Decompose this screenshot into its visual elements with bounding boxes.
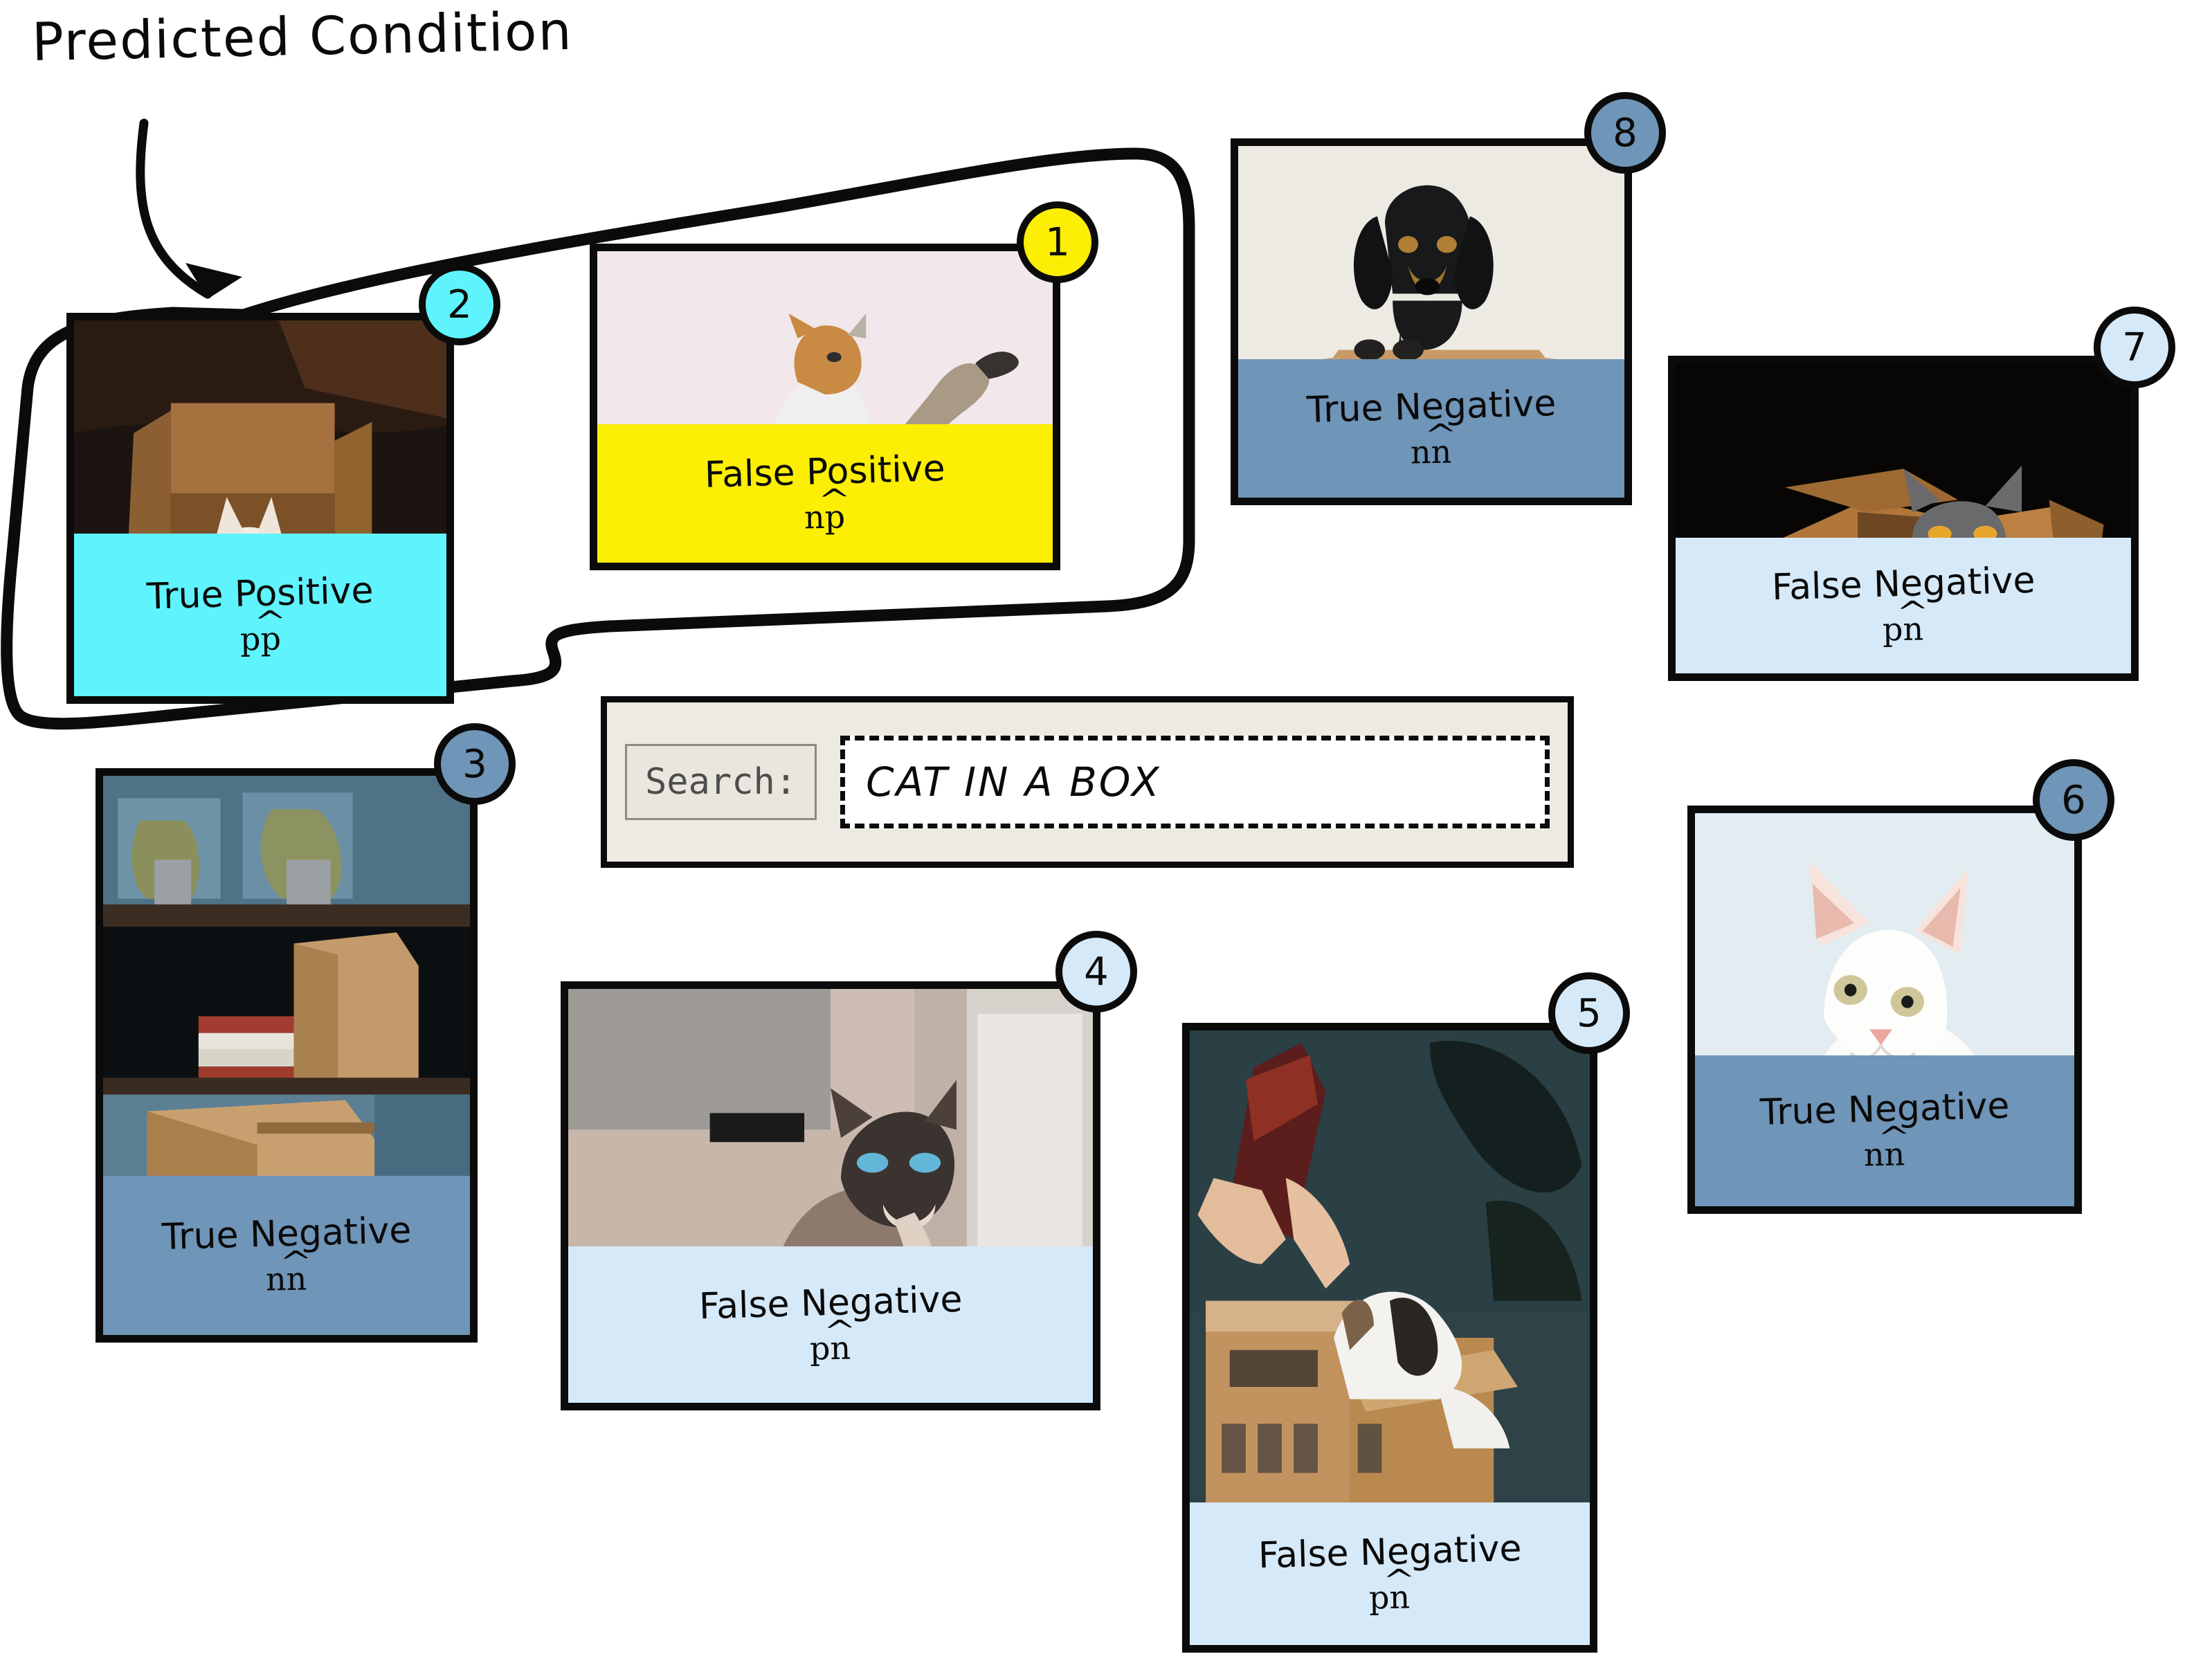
card-badge-8[interactable]: 8 (1584, 92, 1666, 174)
card-symbol: nn (1411, 435, 1452, 468)
card-symbol: np (804, 500, 846, 533)
card-caption: False Negative pn (568, 1246, 1093, 1403)
card-badge-6[interactable]: 6 (2033, 759, 2114, 841)
arrow-head-icon (185, 263, 242, 299)
card-badge-1[interactable]: 1 (1017, 201, 1098, 283)
card-symbol: pp (239, 622, 281, 655)
card-symbol: pn (1369, 1581, 1411, 1613)
search-input[interactable]: CAT IN A BOX (840, 736, 1550, 828)
card-caption: True Negative nn (103, 1176, 470, 1335)
card-caption: True Negative nn (1238, 359, 1624, 498)
card-true-negative-white-cat[interactable]: True Negative nn 6 (1687, 806, 2082, 1214)
card-badge-4[interactable]: 4 (1055, 931, 1137, 1012)
card-false-positive[interactable]: False Positive np 1 (590, 244, 1060, 570)
title-arrow (140, 123, 208, 294)
card-true-positive[interactable]: True Positive pp 2 (66, 313, 454, 704)
card-caption: False Negative pn (1676, 538, 2131, 673)
card-badge-3[interactable]: 3 (434, 723, 516, 805)
card-caption: True Negative nn (1695, 1055, 2074, 1206)
card-caption: False Positive np (597, 424, 1053, 563)
card-true-negative-dog[interactable]: True Negative nn 8 (1231, 138, 1632, 505)
search-bar[interactable]: Search: CAT IN A BOX (601, 696, 1574, 868)
search-label: Search: (625, 744, 817, 820)
card-badge-7[interactable]: 7 (2094, 307, 2175, 388)
card-caption: False Negative pn (1190, 1502, 1590, 1645)
card-badge-5[interactable]: 5 (1548, 972, 1630, 1054)
card-symbol: nn (266, 1262, 307, 1295)
diagram-canvas: Predicted Condition True Positiv (0, 0, 2212, 1672)
card-true-negative-boxes[interactable]: True Negative nn 3 (96, 768, 478, 1343)
card-badge-2[interactable]: 2 (419, 264, 500, 345)
card-symbol: nn (1864, 1138, 1905, 1170)
card-false-negative-box-cat[interactable]: False Negative pn 5 (1182, 1023, 1597, 1653)
card-false-negative-siamese[interactable]: False Negative pn 4 (561, 981, 1100, 1410)
card-caption: True Positive pp (74, 534, 446, 696)
card-symbol: pn (1883, 612, 1924, 645)
page-title: Predicted Condition (31, 0, 573, 73)
card-symbol: pn (810, 1332, 851, 1364)
card-false-negative-grey-kitten[interactable]: False Negative pn 7 (1668, 356, 2139, 681)
